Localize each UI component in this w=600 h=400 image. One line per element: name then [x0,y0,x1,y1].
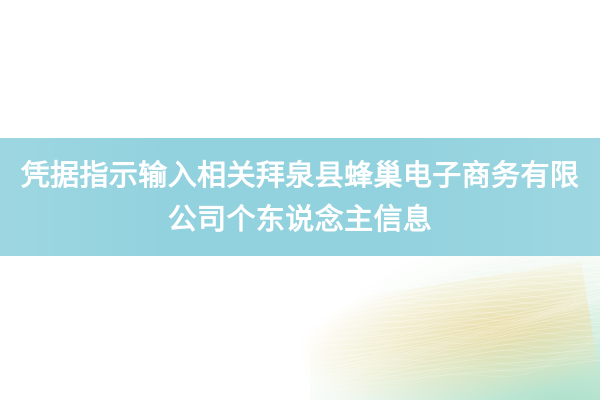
headline-text: 凭据指示输入相关拜泉县蜂巢电子商务有限公司个东说念主信息 [10,153,590,241]
headline-container: 凭据指示输入相关拜泉县蜂巢电子商务有限公司个东说念主信息 [0,138,600,256]
banner-image: 凭据指示输入相关拜泉县蜂巢电子商务有限公司个东说念主信息 [0,0,600,400]
